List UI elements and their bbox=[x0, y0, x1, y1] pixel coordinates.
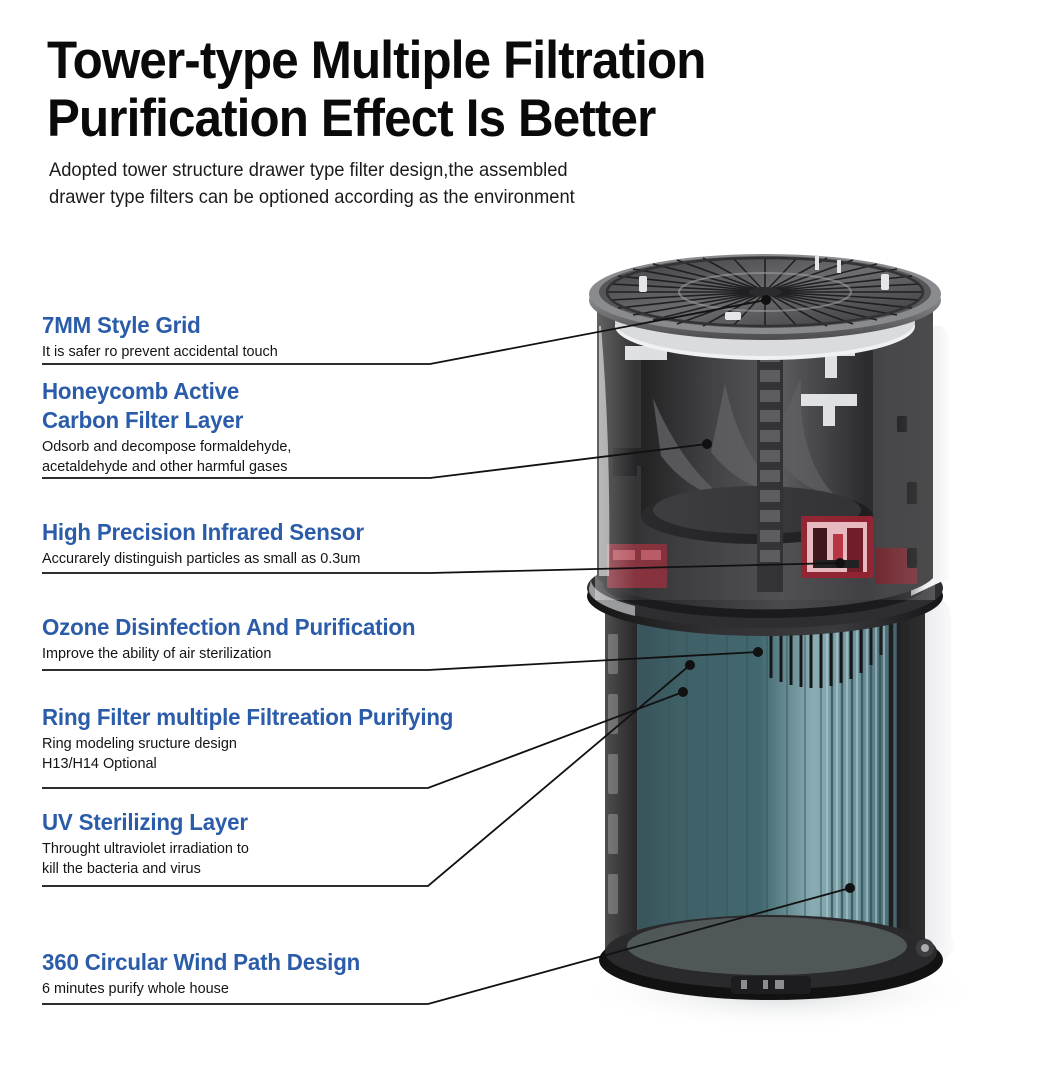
feature-title: Honeycomb Active Carbon Filter Layer bbox=[42, 377, 291, 435]
upper-fan-section bbox=[589, 254, 949, 609]
feature-title: 7MM Style Grid bbox=[42, 311, 278, 340]
feature-desc: It is safer ro prevent accidental touch bbox=[42, 342, 278, 362]
base-plate bbox=[599, 915, 943, 1000]
feature-desc: Throught ultraviolet irradiation to kill… bbox=[42, 839, 249, 878]
feature-desc: Odsorb and decompose formaldehyde, aceta… bbox=[42, 437, 291, 476]
feature-uv-layer: UV Sterilizing Layer Throught ultraviole… bbox=[42, 808, 260, 878]
feature-infrared-sensor: High Precision Infrared Sensor Accurarel… bbox=[42, 518, 381, 569]
feature-ozone: Ozone Disinfection And Purification Impr… bbox=[42, 613, 435, 664]
grille-hub bbox=[749, 287, 781, 297]
page-subtitle: Adopted tower structure drawer type filt… bbox=[49, 157, 856, 211]
feature-title: Ozone Disinfection And Purification bbox=[42, 613, 415, 642]
feature-desc: Ring modeling sructure design H13/H14 Op… bbox=[42, 734, 453, 773]
product-illustration bbox=[575, 248, 1005, 1038]
feature-wind-path: 360 Circular Wind Path Design 6 minutes … bbox=[42, 948, 377, 999]
feature-desc: 6 minutes purify whole house bbox=[42, 979, 360, 999]
feature-desc: Accurarely distinguish particles as smal… bbox=[42, 549, 364, 569]
page-title: Tower-type Multiple Filtration Purificat… bbox=[47, 32, 847, 148]
feature-title: UV Sterilizing Layer bbox=[42, 808, 249, 837]
feature-title: 360 Circular Wind Path Design bbox=[42, 948, 360, 977]
header-block: Tower-type Multiple Filtration Purificat… bbox=[47, 32, 907, 211]
feature-carbon-filter: Honeycomb Active Carbon Filter Layer Ods… bbox=[42, 377, 305, 476]
feature-desc: Improve the ability of air sterilization bbox=[42, 644, 415, 664]
feature-title: Ring Filter multiple Filtreation Purifyi… bbox=[42, 703, 453, 732]
feature-title: High Precision Infrared Sensor bbox=[42, 518, 364, 547]
feature-ring-filter: Ring Filter multiple Filtreation Purifyi… bbox=[42, 703, 475, 773]
feature-style-grid: 7MM Style Grid It is safer ro prevent ac… bbox=[42, 311, 290, 362]
